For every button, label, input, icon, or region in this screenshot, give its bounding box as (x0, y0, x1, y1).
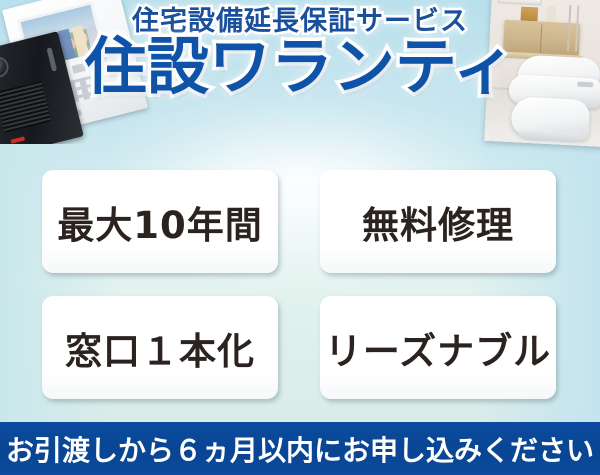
bathroom-toilet-photo (484, 0, 600, 147)
bathroom-decor-vase (546, 6, 556, 22)
feature-box-free-repair[interactable]: 無料修理 (320, 170, 556, 273)
feature-box-max-years[interactable]: 最大10年間 (42, 170, 278, 273)
feature-box-reasonable[interactable]: リーズナブル (320, 296, 556, 399)
bathroom-decor-box (521, 7, 539, 22)
feature-box-grid: 最大10年間 無料修理 窓口１本化 リーズナブル (42, 170, 556, 399)
feature-label: 最大10年間 (57, 195, 263, 249)
intercom-call-button (11, 136, 26, 143)
intercom-speaker-grille (0, 81, 51, 133)
intercom-camera-lens-icon (0, 54, 11, 79)
feature-label: 窓口１本化 (65, 321, 255, 375)
intercom-side-accent (46, 47, 57, 71)
feature-label: 無料修理 (362, 195, 514, 249)
feature-box-single-contact[interactable]: 窓口１本化 (42, 296, 278, 399)
application-deadline-bar: お引渡しから６ヵ月以内にお申し込みください (0, 422, 600, 475)
video-intercom-photo (0, 0, 180, 144)
promo-banner: 住宅設備延長保証サービス 住設ワランティ 最大10年間 無料修理 窓口１本化 リ… (0, 0, 600, 475)
toilet-sensor (577, 82, 593, 88)
application-deadline-text: お引渡しから６ヵ月以内にお申し込みください (6, 429, 594, 469)
feature-label: リーズナブル (325, 321, 551, 375)
